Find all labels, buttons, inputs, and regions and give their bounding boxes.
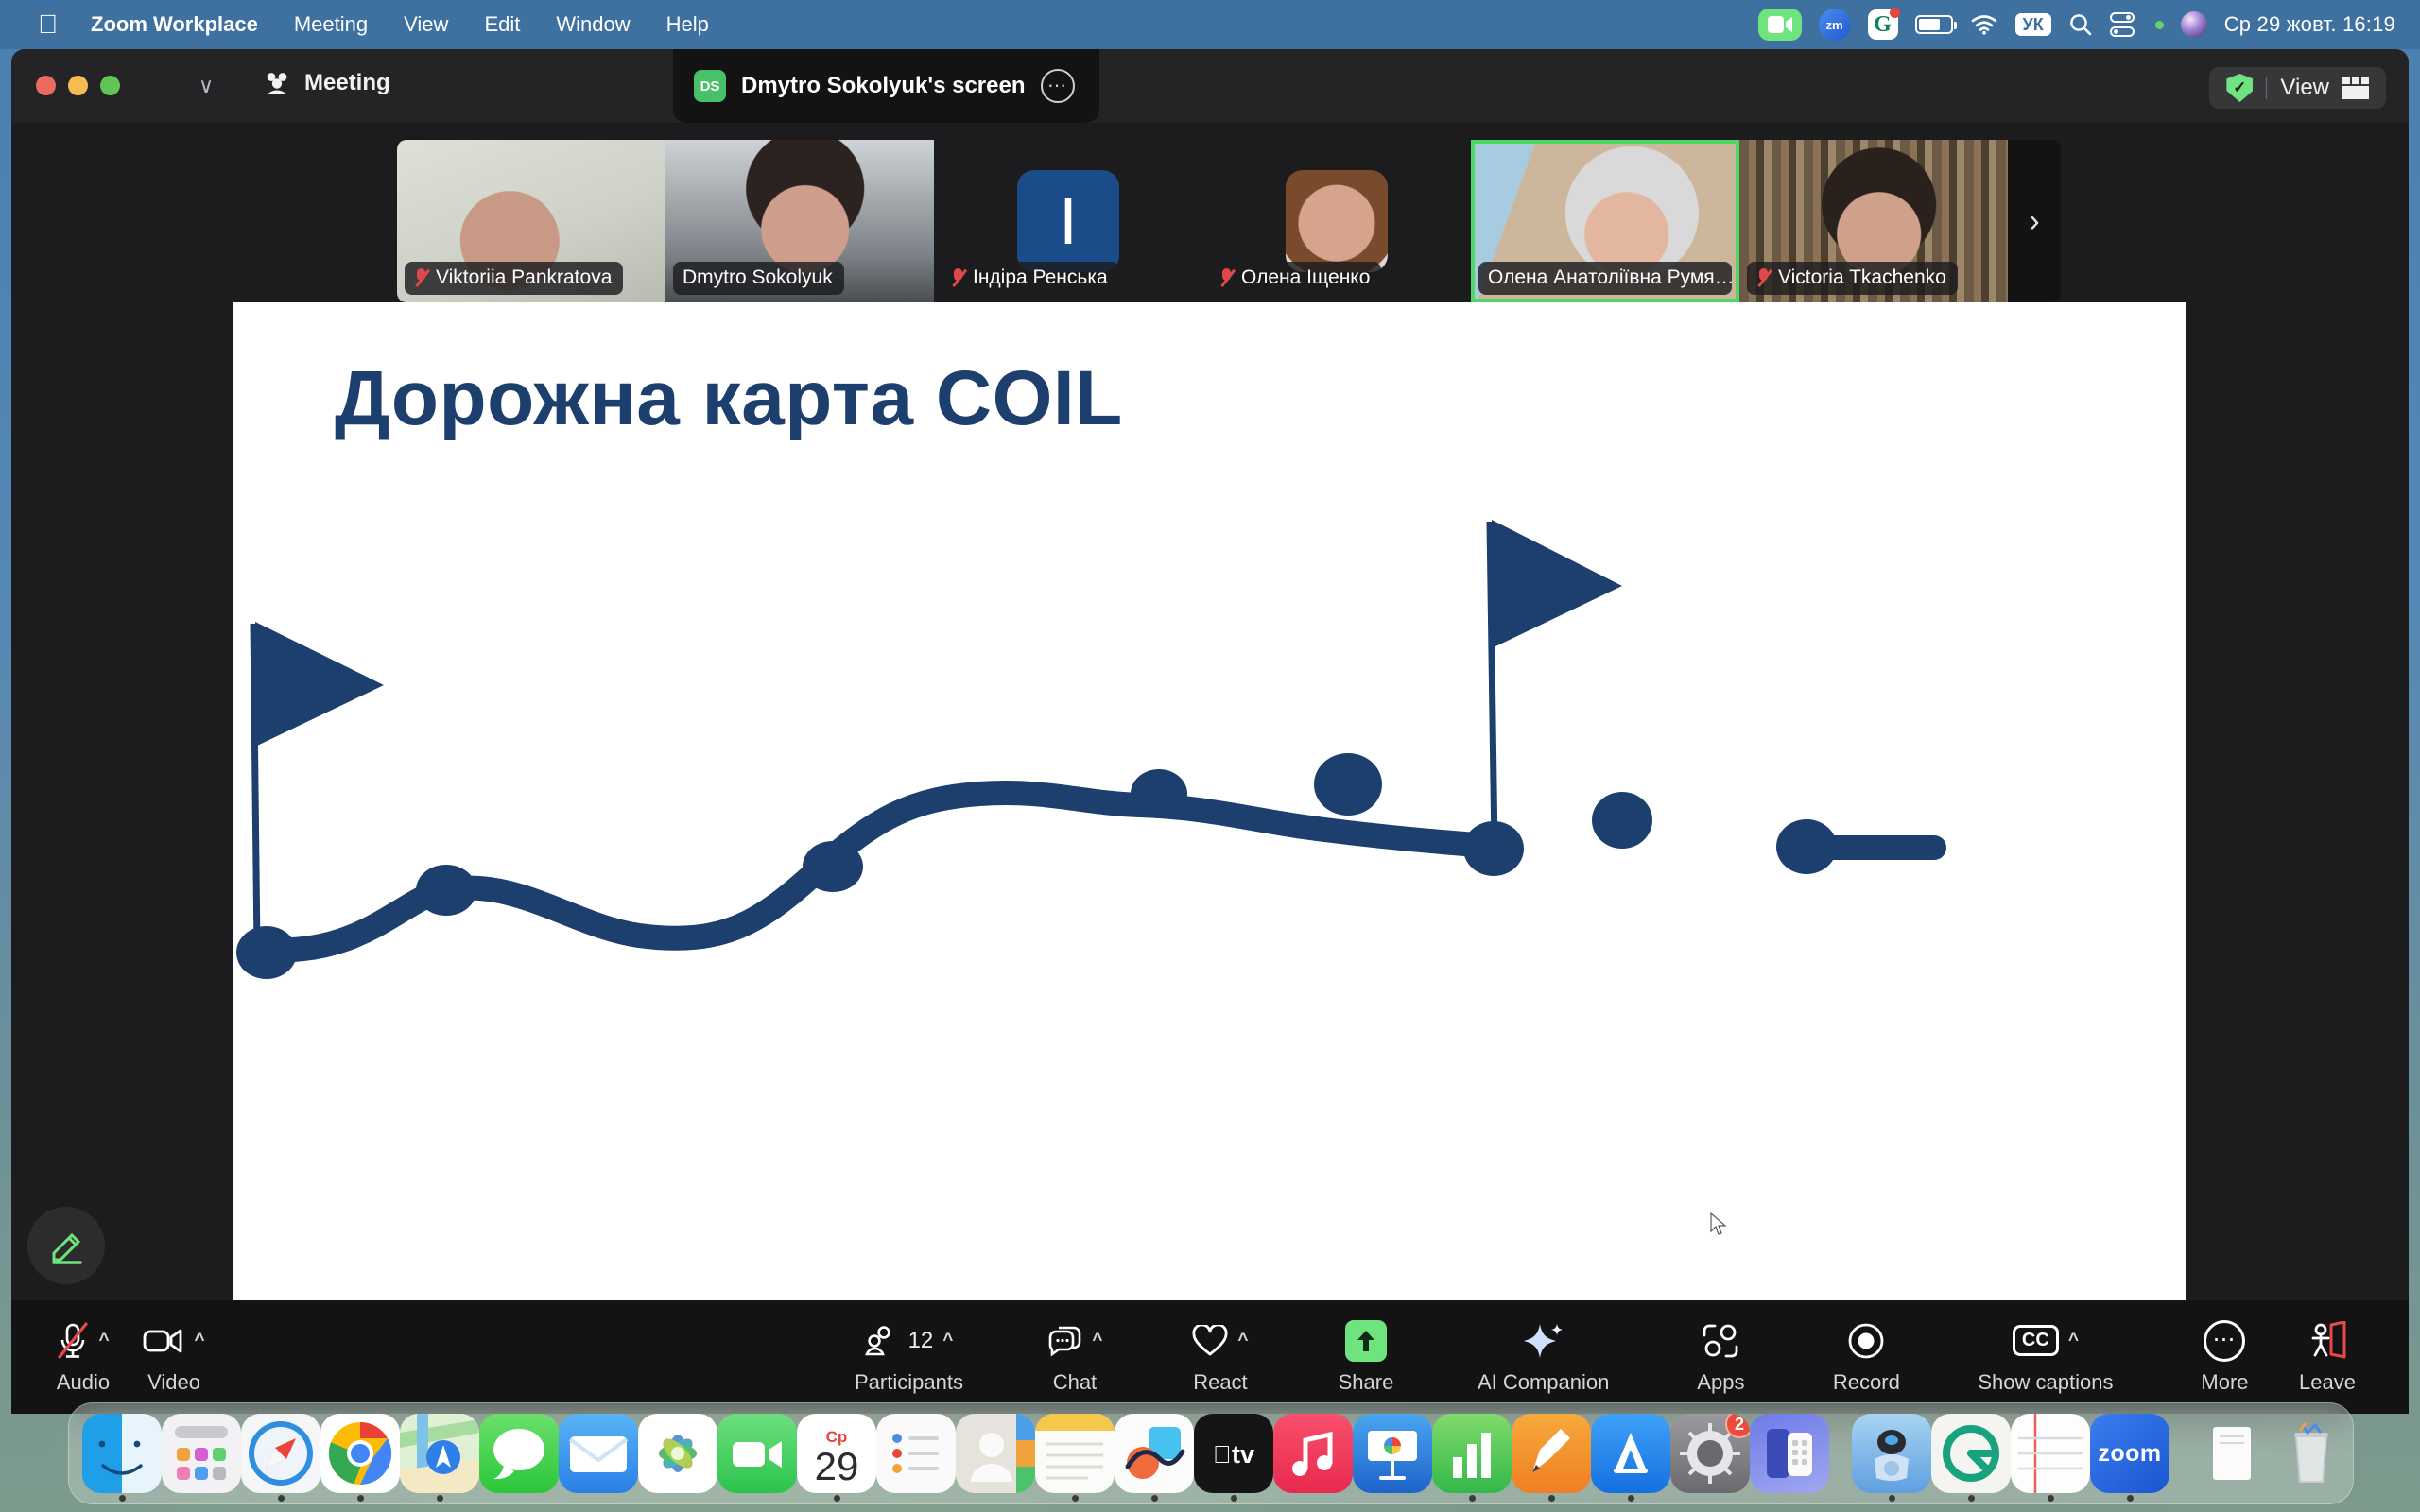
window-traffic-lights[interactable] [36, 76, 120, 95]
apps-button[interactable]: Apps [1675, 1320, 1766, 1395]
video-button-label: Video [147, 1370, 200, 1395]
mouse-cursor [1710, 1212, 1727, 1237]
participant-tile[interactable]: Dmytro Sokolyuk [665, 140, 934, 302]
zoom-dock-label: zoom [2098, 1440, 2161, 1468]
running-indicator [278, 1495, 285, 1502]
chat-button[interactable]: ^ Chat [1029, 1320, 1120, 1395]
filmstrip-next-button[interactable]: › [2008, 140, 2061, 302]
running-indicator [1469, 1495, 1476, 1502]
heart-icon [1192, 1325, 1228, 1357]
react-button-label: React [1193, 1370, 1247, 1395]
cc-icon: CC [2013, 1325, 2059, 1356]
view-controls[interactable]: ✓ View [2209, 67, 2386, 109]
participants-button-label: Participants [855, 1370, 963, 1395]
dock-item-zoom[interactable]: zoom [2090, 1414, 2169, 1493]
more-button-label: More [2201, 1370, 2248, 1395]
audio-button[interactable]: ^ Audio [38, 1320, 129, 1395]
milestone-node [1463, 821, 1524, 876]
show-captions-button-label: Show captions [1978, 1370, 2113, 1395]
keyboard-layout-icon[interactable]: УК [2015, 13, 2051, 36]
macos-menubar:  Zoom Workplace Meeting View Edit Windo… [0, 0, 2420, 49]
participant-tile[interactable]: І Індіра Ренська [934, 140, 1202, 302]
participant-tile[interactable]: Viktoriia Pankratova [397, 140, 665, 302]
tab-meeting-label: Meeting [304, 70, 390, 96]
apps-icon [1702, 1323, 1739, 1359]
milestone-node [1314, 753, 1382, 816]
show-captions-button[interactable]: CC ^ Show captions [1966, 1320, 2124, 1395]
share-button-label: Share [1339, 1370, 1394, 1395]
running-indicator [834, 1495, 840, 1502]
zoom-titlebar: ∨ Meeting DS Dmytro Sokolyuk's screen ⋯ … [11, 49, 2409, 123]
flag-icon [255, 622, 384, 747]
participant-name: Victoria Tkachenko [1778, 266, 1946, 289]
microphone-muted-icon [1219, 267, 1234, 288]
recording-indicator-dot [2155, 21, 2164, 29]
dock-item-apple-tv[interactable]:  tv [1194, 1414, 1273, 1493]
tab-shared-screen-label: Dmytro Sokolyuk's screen [741, 73, 1026, 99]
macos-dock: Ср 29 [68, 1402, 2354, 1504]
people-icon [865, 1326, 899, 1356]
participant-tile[interactable]: Victoria Tkachenko [1739, 140, 2008, 302]
participant-namechip: Індіра Ренська [942, 262, 1119, 295]
menu-help[interactable]: Help [648, 0, 727, 49]
sparkle-icon [1523, 1322, 1564, 1360]
avatar-initial: І [1017, 170, 1119, 272]
zoom-meeting-toolbar: ^ Audio ^ Video 12 [11, 1300, 2409, 1414]
battery-icon[interactable] [1915, 15, 1953, 34]
captions-options-caret[interactable]: ^ [2068, 1331, 2079, 1351]
milestone-node [416, 865, 476, 916]
video-button[interactable]: ^ Video [129, 1320, 219, 1395]
minimize-window-button[interactable] [68, 76, 88, 95]
running-indicator [1151, 1495, 1158, 1502]
video-options-caret[interactable]: ^ [194, 1331, 204, 1351]
running-indicator [1628, 1495, 1634, 1502]
camera-active-icon[interactable] [1758, 9, 1802, 41]
dock-item-mail[interactable] [559, 1414, 638, 1493]
chat-options-caret[interactable]: ^ [1092, 1331, 1102, 1351]
dock-item-grammarly[interactable] [1931, 1414, 2011, 1493]
microphone-muted-icon [1756, 267, 1771, 288]
dock-item-iphone-mirroring[interactable] [1750, 1414, 1829, 1493]
people-icon [263, 71, 291, 95]
microphone-muted-icon [414, 267, 428, 288]
running-indicator [1072, 1495, 1079, 1502]
avatar: DS [694, 70, 726, 102]
control-center-icon[interactable] [2110, 12, 2138, 37]
ai-companion-button[interactable]: AI Companion [1466, 1320, 1620, 1395]
tab-shared-screen[interactable]: DS Dmytro Sokolyuk's screen ⋯ [673, 49, 1099, 123]
participant-namechip: Олена Іщенко [1210, 262, 1381, 295]
apple-menu-icon[interactable]:  [23, 0, 73, 49]
dock-item-system-settings[interactable]: 2 [1670, 1414, 1750, 1493]
dock-item-contacts[interactable] [956, 1414, 1035, 1493]
dock-item-notes[interactable] [1035, 1414, 1115, 1493]
dock-item-calendar[interactable]: Ср 29 [797, 1414, 876, 1493]
dock-item-notebook[interactable] [2011, 1414, 2090, 1493]
leave-door-icon [2307, 1321, 2348, 1361]
chevron-down-icon[interactable]: ∨ [199, 74, 214, 98]
security-shield-icon[interactable]: ✓ [2226, 74, 2253, 102]
dock-item-speaker[interactable] [1852, 1414, 1931, 1493]
dock-item-google-chrome[interactable] [320, 1414, 400, 1493]
participants-count: 12 [908, 1328, 934, 1354]
participant-name: Олена Анатоліївна Румя… [1488, 266, 1732, 289]
dock-item-finder[interactable] [82, 1414, 162, 1493]
menu-edit[interactable]: Edit [466, 0, 538, 49]
dock-item-freeform[interactable] [1115, 1414, 1194, 1493]
participant-namechip: Viktoriia Pankratova [405, 262, 623, 295]
participant-filmstrip[interactable]: Viktoriia Pankratova Dmytro Sokolyuk І І… [397, 140, 2061, 302]
running-indicator [1231, 1495, 1237, 1502]
svg-text:tv: tv [1232, 1440, 1254, 1469]
camera-icon [143, 1327, 184, 1355]
maximize-window-button[interactable] [100, 76, 120, 95]
dock-item-launchpad[interactable] [162, 1414, 241, 1493]
annotate-button[interactable] [27, 1207, 105, 1284]
dock-item-trash[interactable] [2272, 1414, 2351, 1493]
avatar: І [1017, 170, 1119, 272]
spotlight-search-icon[interactable] [2068, 12, 2093, 37]
close-window-button[interactable] [36, 76, 56, 95]
wifi-icon[interactable] [1970, 14, 1998, 35]
leave-button-label: Leave [2299, 1370, 2356, 1395]
menu-meeting[interactable]: Meeting [276, 0, 386, 49]
ellipsis-icon: ⋯ [2204, 1320, 2245, 1362]
running-indicator [437, 1495, 443, 1502]
record-circle-icon [1847, 1322, 1885, 1360]
running-indicator [357, 1495, 364, 1502]
milestone-node [1592, 792, 1652, 849]
record-button-label: Record [1833, 1370, 1900, 1395]
participant-name: Олена Іщенко [1241, 266, 1370, 289]
dock-item-keynote[interactable] [1353, 1414, 1432, 1493]
grammarly-icon[interactable]: G [1868, 9, 1898, 40]
ai-companion-button-label: AI Companion [1478, 1370, 1609, 1395]
participant-tile-active-speaker[interactable]: Олена Анатоліївна Румя… [1471, 140, 1739, 302]
menubar-clock[interactable]: Ср 29 жовт. 16:19 [2224, 12, 2395, 37]
microphone-muted-icon [951, 267, 965, 288]
menu-window[interactable]: Window [538, 0, 648, 49]
dock-item-safari[interactable] [241, 1414, 320, 1493]
react-options-caret[interactable]: ^ [1237, 1331, 1248, 1351]
participant-name: Dmytro Sokolyuk [683, 266, 833, 289]
dock-item-reminders[interactable] [876, 1414, 956, 1493]
dock-item-photos[interactable] [638, 1414, 717, 1493]
dock-item-music[interactable] [1273, 1414, 1353, 1493]
react-button[interactable]: ^ React [1175, 1320, 1266, 1395]
svg-text::  [1213, 1440, 1232, 1469]
participant-name: Viktoriia Pankratova [436, 266, 612, 289]
flag-icon [1492, 520, 1622, 648]
roadmap-graphic [233, 302, 2186, 1306]
participant-namechip: Victoria Tkachenko [1747, 262, 1958, 295]
divider [2266, 77, 2267, 99]
dock-item-numbers[interactable] [1432, 1414, 1512, 1493]
zoom-menubar-icon[interactable]: zm [1819, 9, 1851, 41]
tab-meeting[interactable]: Meeting [263, 70, 390, 96]
running-indicator [119, 1495, 126, 1502]
menu-view[interactable]: View [386, 0, 466, 49]
participant-namechip: Dmytro Sokolyuk [673, 262, 844, 295]
dock-item-pages[interactable] [1512, 1414, 1591, 1493]
siri-icon[interactable] [2181, 11, 2207, 38]
leave-button[interactable]: Leave [2282, 1320, 2373, 1395]
participants-options-caret[interactable]: ^ [942, 1331, 953, 1351]
milestone-node [1131, 769, 1187, 818]
milestone-node [236, 926, 297, 979]
menu-app-name[interactable]: Zoom Workplace [73, 0, 276, 49]
more-options-icon[interactable]: ⋯ [1041, 69, 1075, 103]
running-indicator [2048, 1495, 2054, 1502]
dock-item-maps[interactable] [400, 1414, 479, 1493]
share-button[interactable]: Share [1321, 1320, 1411, 1395]
milestone-node [803, 841, 863, 892]
share-arrow-up-icon [1345, 1320, 1387, 1362]
running-indicator [2127, 1495, 2134, 1502]
dock-item-downloads[interactable] [2192, 1414, 2272, 1493]
running-indicator [1889, 1495, 1895, 1502]
participants-button[interactable]: 12 ^ Participants [843, 1320, 975, 1395]
layout-grid-icon[interactable] [2342, 77, 2369, 99]
audio-options-caret[interactable]: ^ [98, 1331, 109, 1351]
pencil-annotate-icon [45, 1225, 87, 1266]
dock-item-app-store[interactable] [1591, 1414, 1670, 1493]
shared-screen-slide: Дорожна карта COIL [233, 302, 2186, 1306]
record-button[interactable]: Record [1821, 1320, 1911, 1395]
audio-button-label: Audio [57, 1370, 110, 1395]
view-button-label: View [2280, 75, 2329, 101]
more-button[interactable]: ⋯ More [2179, 1320, 2270, 1395]
microphone-muted-icon [57, 1322, 89, 1360]
participant-namechip: Олена Анатоліївна Румя… [1478, 262, 1732, 295]
participant-tile[interactable]: Олена Іщенко [1202, 140, 1471, 302]
calendar-day: 29 [815, 1447, 859, 1486]
running-indicator [1548, 1495, 1555, 1502]
apps-button-label: Apps [1697, 1370, 1744, 1395]
running-indicator [1968, 1495, 1975, 1502]
chat-button-label: Chat [1053, 1370, 1097, 1395]
participant-name: Індіра Ренська [973, 266, 1108, 289]
dock-item-facetime[interactable] [717, 1414, 797, 1493]
dock-item-messages[interactable] [479, 1414, 559, 1493]
chat-bubble-icon [1046, 1324, 1082, 1358]
avatar [1286, 170, 1388, 272]
